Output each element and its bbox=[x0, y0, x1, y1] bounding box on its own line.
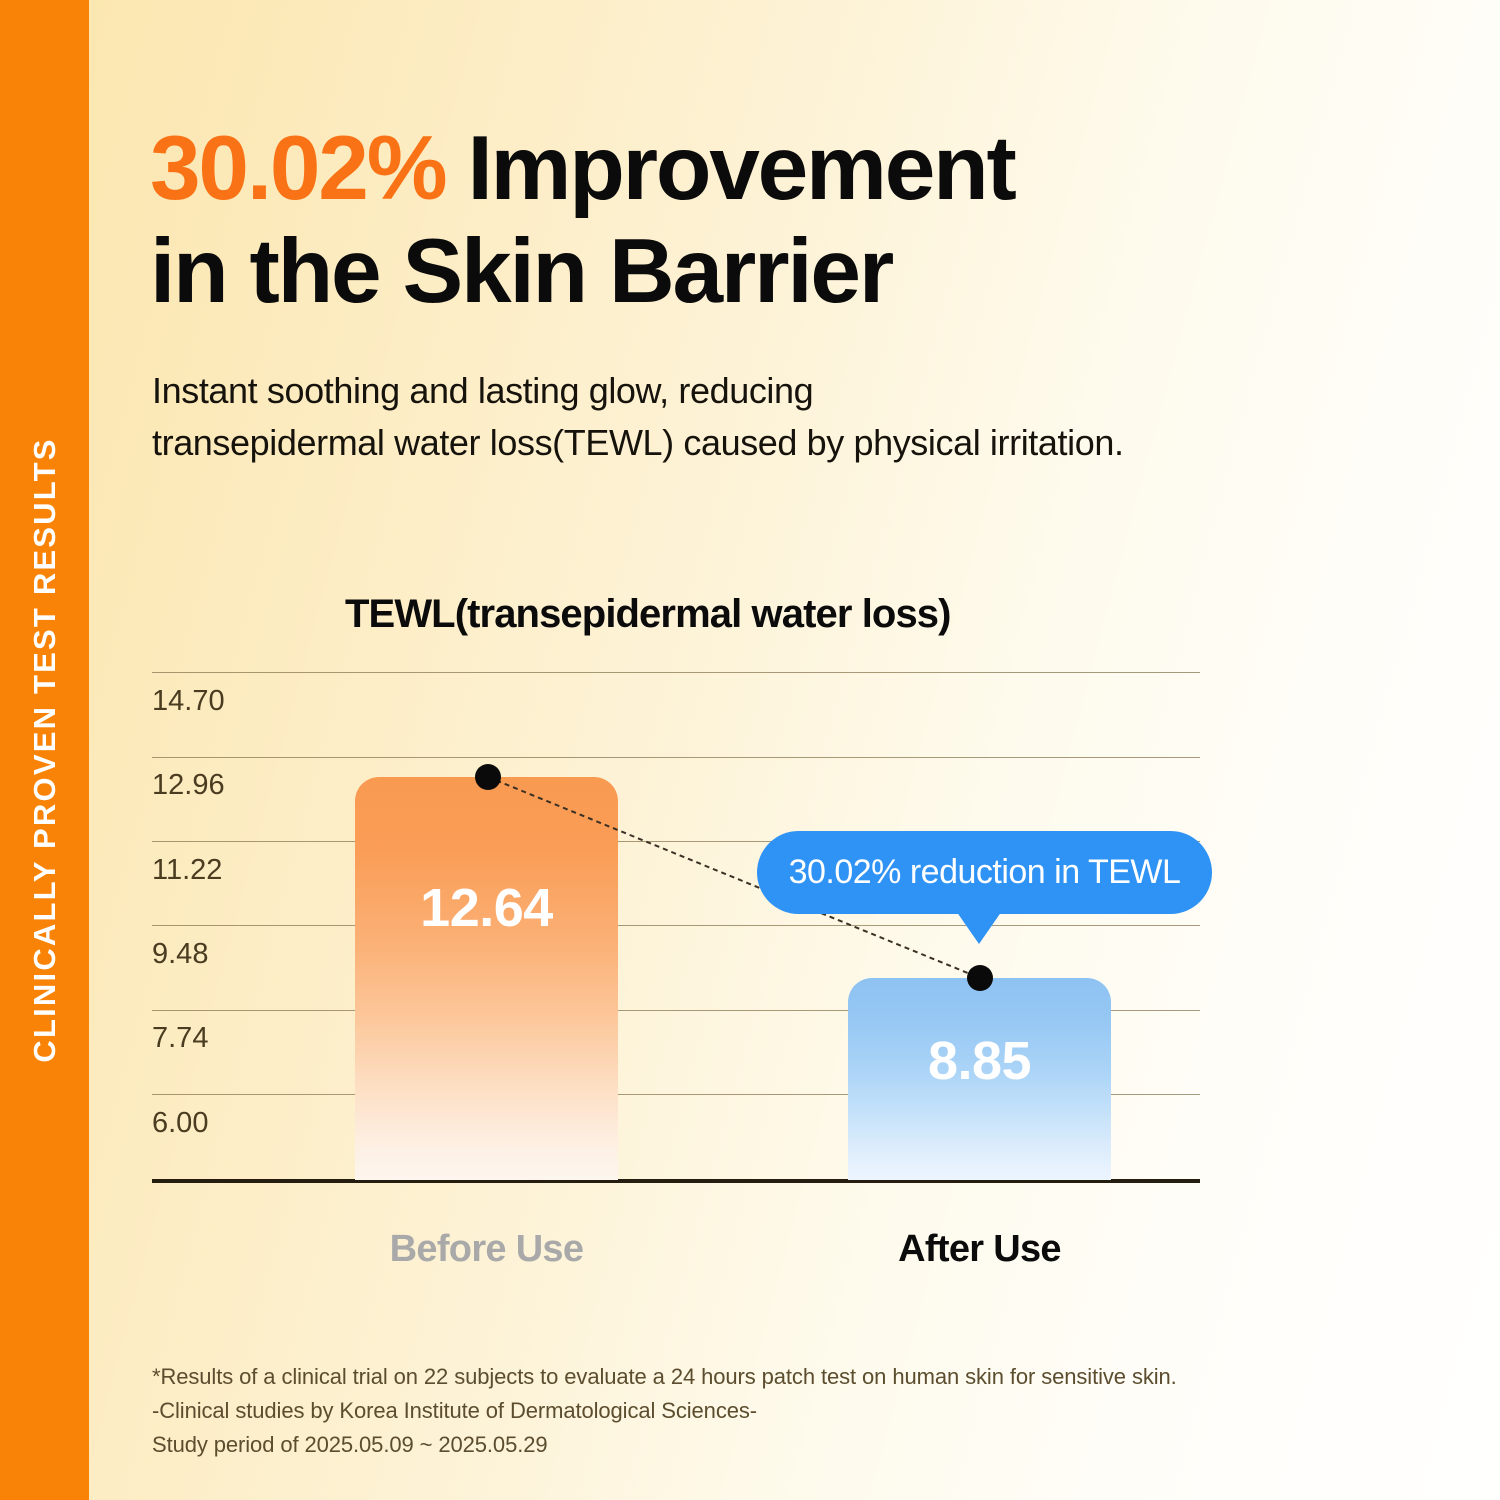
tewl-bar-chart: TEWL(transepidermal water loss) 14.70 12… bbox=[0, 0, 1500, 1500]
x-axis-label-after: After Use bbox=[848, 1228, 1111, 1271]
marker-dot-after bbox=[967, 965, 993, 991]
reduction-callout-tail bbox=[954, 908, 1004, 944]
trend-connector bbox=[0, 0, 1500, 1500]
poster-canvas: CLINICALLY PROVEN TEST RESULTS 30.02%Imp… bbox=[0, 0, 1500, 1500]
footnote-line-1: *Results of a clinical trial on 22 subje… bbox=[152, 1360, 1252, 1394]
footnote-line-3: Study period of 2025.05.09 ~ 2025.05.29 bbox=[152, 1428, 1252, 1462]
marker-dot-before bbox=[475, 764, 501, 790]
reduction-callout: 30.02% reduction in TEWL bbox=[757, 831, 1212, 914]
x-axis-label-before: Before Use bbox=[355, 1228, 618, 1271]
footnote-line-2: -Clinical studies by Korea Institute of … bbox=[152, 1394, 1252, 1428]
reduction-callout-label: 30.02% reduction in TEWL bbox=[789, 853, 1181, 892]
footnote: *Results of a clinical trial on 22 subje… bbox=[152, 1360, 1252, 1462]
